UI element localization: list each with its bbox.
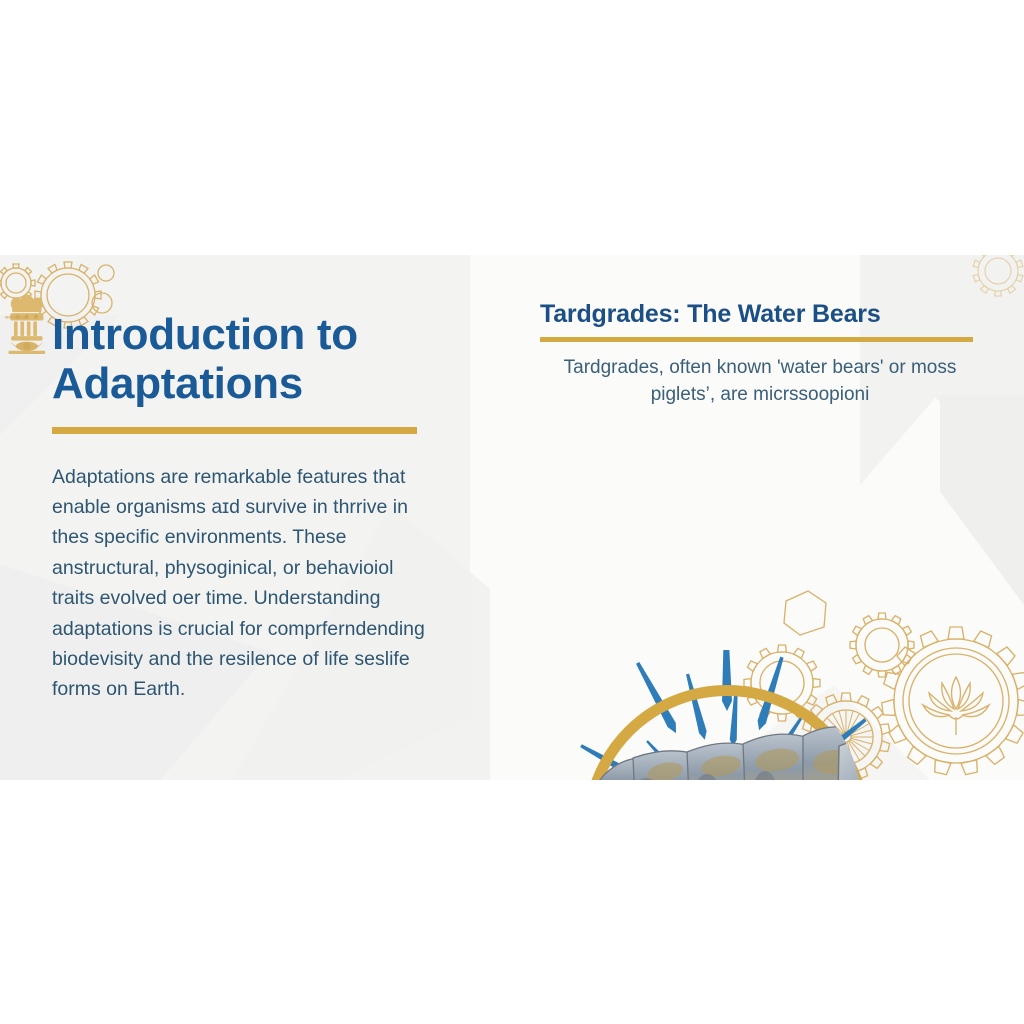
slide-canvas: सत्यमेव जयते [0,255,1024,780]
card-title: Tardgrades: The Water Bears [540,300,990,329]
page-title: Introduction to Adaptations [52,310,432,409]
tardigrade-figure [455,650,955,780]
card-title-divider [540,337,973,342]
card-subtitle: Tardgrades, often known 'water bears' or… [540,355,980,409]
tardigrade-illustration [515,650,955,780]
body-paragraph: Adaptations are remarkable features that… [52,462,430,705]
left-content-column: Introduction to Adaptations Adaptations … [52,310,432,705]
background-chevron-2 [940,395,1024,605]
title-divider [52,427,417,434]
right-content-column: Tardgrades: The Water Bears Tardgrades, … [540,300,990,409]
